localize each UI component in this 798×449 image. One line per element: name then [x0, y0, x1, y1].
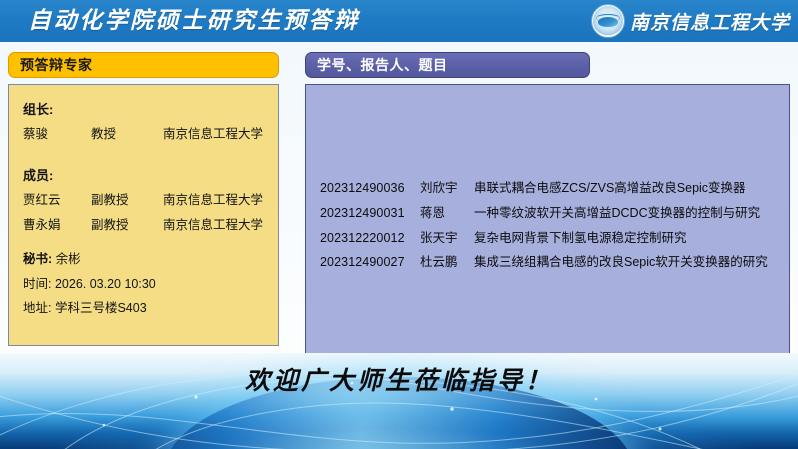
member-name: 贾红云 [23, 194, 91, 208]
experts-content: 组长: 蔡骏 教授 南京信息工程大学 成员: 贾红云 副教授 南京信息工程大学 … [23, 103, 268, 327]
member-title: 副教授 [91, 194, 163, 208]
experts-panel-header: 预答辩专家 [8, 52, 279, 78]
experts-panel-header-label: 预答辩专家 [20, 55, 93, 75]
report-row: 202312490031 蒋恩 一种零纹波软开关高增益DCDC变换器的控制与研究 [320, 207, 781, 221]
report-topic: 一种零纹波软开关高增益DCDC变换器的控制与研究 [474, 207, 781, 221]
secretary-value: 余彬 [56, 252, 81, 266]
member-org: 南京信息工程大学 [163, 194, 268, 208]
leader-title: 教授 [91, 128, 163, 142]
report-presenter: 刘欣宇 [420, 182, 474, 196]
welcome-banner: 欢迎广大师生莅临指导！ [0, 353, 798, 449]
report-student-id: 202312490031 [320, 207, 420, 221]
address-value: 学科三号楼S403 [55, 301, 147, 315]
title-bar: 自动化学院硕士研究生预答辩 南京信息工程大学 [0, 0, 798, 42]
member-row: 曹永娟 副教授 南京信息工程大学 [23, 219, 268, 233]
secretary-row: 秘书: 余彬 [23, 253, 268, 267]
report-row: 202312490027 杜云鹏 集成三绕组耦合电感的改良Sepic软开关变换器… [320, 256, 781, 270]
report-student-id: 202312490036 [320, 182, 420, 196]
welcome-message: 欢迎广大师生莅临指导！ [0, 361, 798, 397]
secretary-label: 秘书: [23, 252, 52, 266]
page-title: 自动化学院硕士研究生预答辩 [28, 2, 360, 40]
report-row: 202312220012 张天宇 复杂电网背景下制氢电源稳定控制研究 [320, 232, 781, 246]
report-student-id: 202312220012 [320, 232, 420, 246]
section-spacer [23, 153, 268, 169]
reports-panel-body: 202312490036 刘欣宇 串联式耦合电感ZCS/ZVS高增益改良Sepi… [305, 84, 790, 363]
university-logo: 南京信息工程大学 [592, 3, 790, 39]
report-topic: 串联式耦合电感ZCS/ZVS高增益改良Sepic变换器 [474, 182, 781, 196]
leader-label: 组长: [23, 103, 268, 117]
university-seal-icon [592, 5, 624, 37]
member-row: 贾红云 副教授 南京信息工程大学 [23, 194, 268, 208]
leader-row: 蔡骏 教授 南京信息工程大学 [23, 128, 268, 142]
address-row: 地址: 学科三号楼S403 [23, 302, 268, 316]
reports-panel-header-label: 学号、报告人、题目 [317, 55, 448, 75]
reports-list: 202312490036 刘欣宇 串联式耦合电感ZCS/ZVS高增益改良Sepi… [320, 182, 781, 281]
report-presenter: 张天宇 [420, 232, 474, 246]
report-presenter: 杜云鹏 [420, 256, 474, 270]
member-name: 曹永娟 [23, 219, 91, 233]
leader-name: 蔡骏 [23, 128, 91, 142]
reports-panel-header: 学号、报告人、题目 [305, 52, 590, 78]
experts-panel-body: 组长: 蔡骏 教授 南京信息工程大学 成员: 贾红云 副教授 南京信息工程大学 … [8, 84, 279, 346]
members-label: 成员: [23, 169, 268, 183]
address-label: 地址: [23, 301, 51, 315]
university-wordmark: 南京信息工程大学 [630, 8, 790, 35]
member-org: 南京信息工程大学 [163, 219, 268, 233]
time-label: 时间: [23, 277, 51, 291]
report-topic: 集成三绕组耦合电感的改良Sepic软开关变换器的研究 [474, 256, 781, 270]
report-student-id: 202312490027 [320, 256, 420, 270]
report-row: 202312490036 刘欣宇 串联式耦合电感ZCS/ZVS高增益改良Sepi… [320, 182, 781, 196]
time-value: 2026. 03.20 10:30 [55, 277, 156, 291]
leader-org: 南京信息工程大学 [163, 128, 268, 142]
report-topic: 复杂电网背景下制氢电源稳定控制研究 [474, 232, 781, 246]
time-row: 时间: 2026. 03.20 10:30 [23, 278, 268, 292]
report-presenter: 蒋恩 [420, 207, 474, 221]
slide-canvas: 自动化学院硕士研究生预答辩 南京信息工程大学 预答辩专家 组长: 蔡骏 教授 南… [0, 0, 798, 449]
member-title: 副教授 [91, 219, 163, 233]
